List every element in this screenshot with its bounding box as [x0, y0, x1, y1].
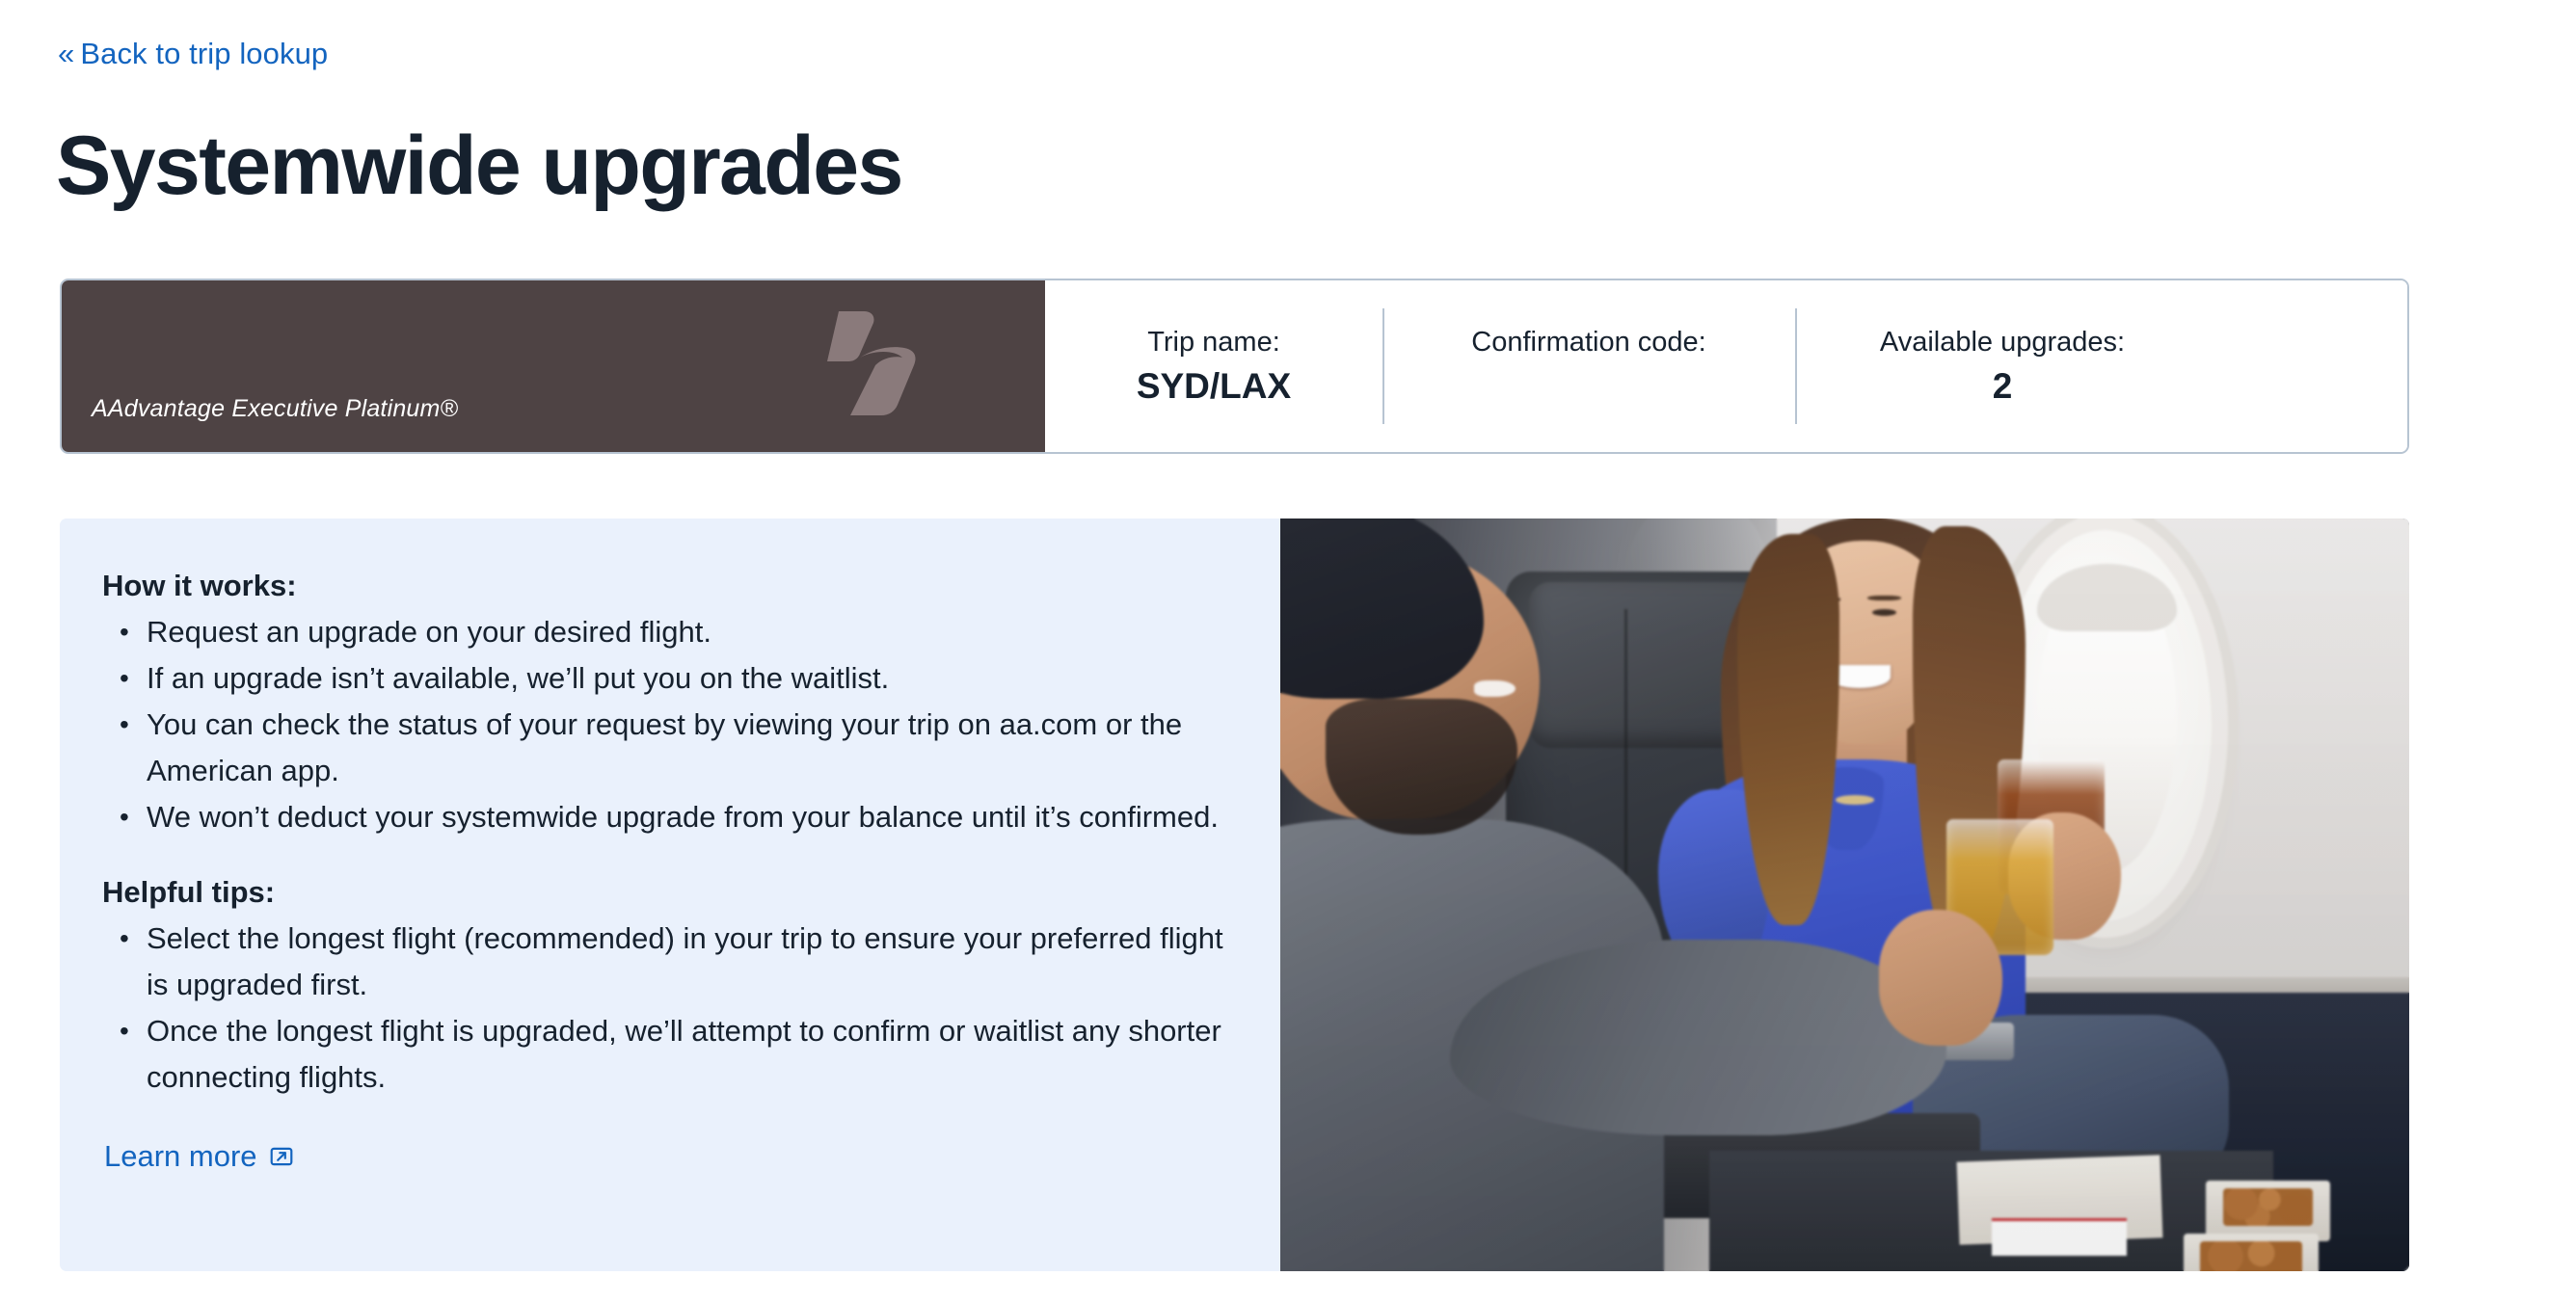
- helpful-tips-heading: Helpful tips:: [102, 873, 1224, 912]
- status-tier-label: AAdvantage Executive Platinum®: [92, 394, 458, 423]
- trip-card-fields: Trip name: SYD/LAX Confirmation code: Av…: [1045, 280, 2407, 452]
- premium-cabin-photo: [1280, 519, 2409, 1271]
- systemwide-upgrades-page: «Back to trip lookup Systemwide upgrades…: [0, 0, 2576, 1303]
- available-upgrades-label: Available upgrades:: [1880, 325, 2125, 359]
- info-panel: How it works: Request an upgrade on your…: [60, 519, 2409, 1271]
- list-item: Request an upgrade on your desired fligh…: [108, 609, 1224, 655]
- list-item: Select the longest flight (recommended) …: [108, 916, 1224, 1008]
- trip-name-label: Trip name:: [1147, 325, 1280, 359]
- back-link-label: Back to trip lookup: [80, 37, 328, 70]
- external-link-icon: [269, 1144, 294, 1169]
- how-it-works-list: Request an upgrade on your desired fligh…: [108, 609, 1224, 840]
- list-item: Once the longest flight is upgraded, we’…: [108, 1008, 1224, 1101]
- list-item: If an upgrade isn’t available, we’ll put…: [108, 655, 1224, 702]
- list-item: You can check the status of your request…: [108, 702, 1224, 794]
- learn-more-link[interactable]: Learn more: [104, 1137, 294, 1176]
- available-upgrades-value: 2: [1993, 365, 2013, 408]
- info-text-column: How it works: Request an upgrade on your…: [60, 519, 1280, 1271]
- page-title: Systemwide upgrades: [56, 120, 902, 212]
- available-upgrades-field: Available upgrades: 2: [1795, 280, 2210, 452]
- learn-more-label: Learn more: [104, 1137, 257, 1176]
- status-tier-band: AAdvantage Executive Platinum®: [62, 280, 1045, 452]
- back-to-trip-lookup-link[interactable]: «Back to trip lookup: [58, 35, 328, 73]
- trip-name-field: Trip name: SYD/LAX: [1045, 280, 1382, 452]
- confirmation-code-field: Confirmation code:: [1382, 280, 1795, 452]
- list-item: We won’t deduct your systemwide upgrade …: [108, 794, 1224, 840]
- helpful-tips-list: Select the longest flight (recommended) …: [108, 916, 1224, 1101]
- how-it-works-heading: How it works:: [102, 567, 1224, 605]
- trip-name-value: SYD/LAX: [1137, 365, 1291, 408]
- confirmation-code-label: Confirmation code:: [1471, 325, 1705, 359]
- trip-summary-card: AAdvantage Executive Platinum® Trip name…: [60, 279, 2409, 454]
- back-chevron-icon: «: [58, 37, 74, 70]
- american-airlines-tail-logo-icon: [814, 307, 931, 419]
